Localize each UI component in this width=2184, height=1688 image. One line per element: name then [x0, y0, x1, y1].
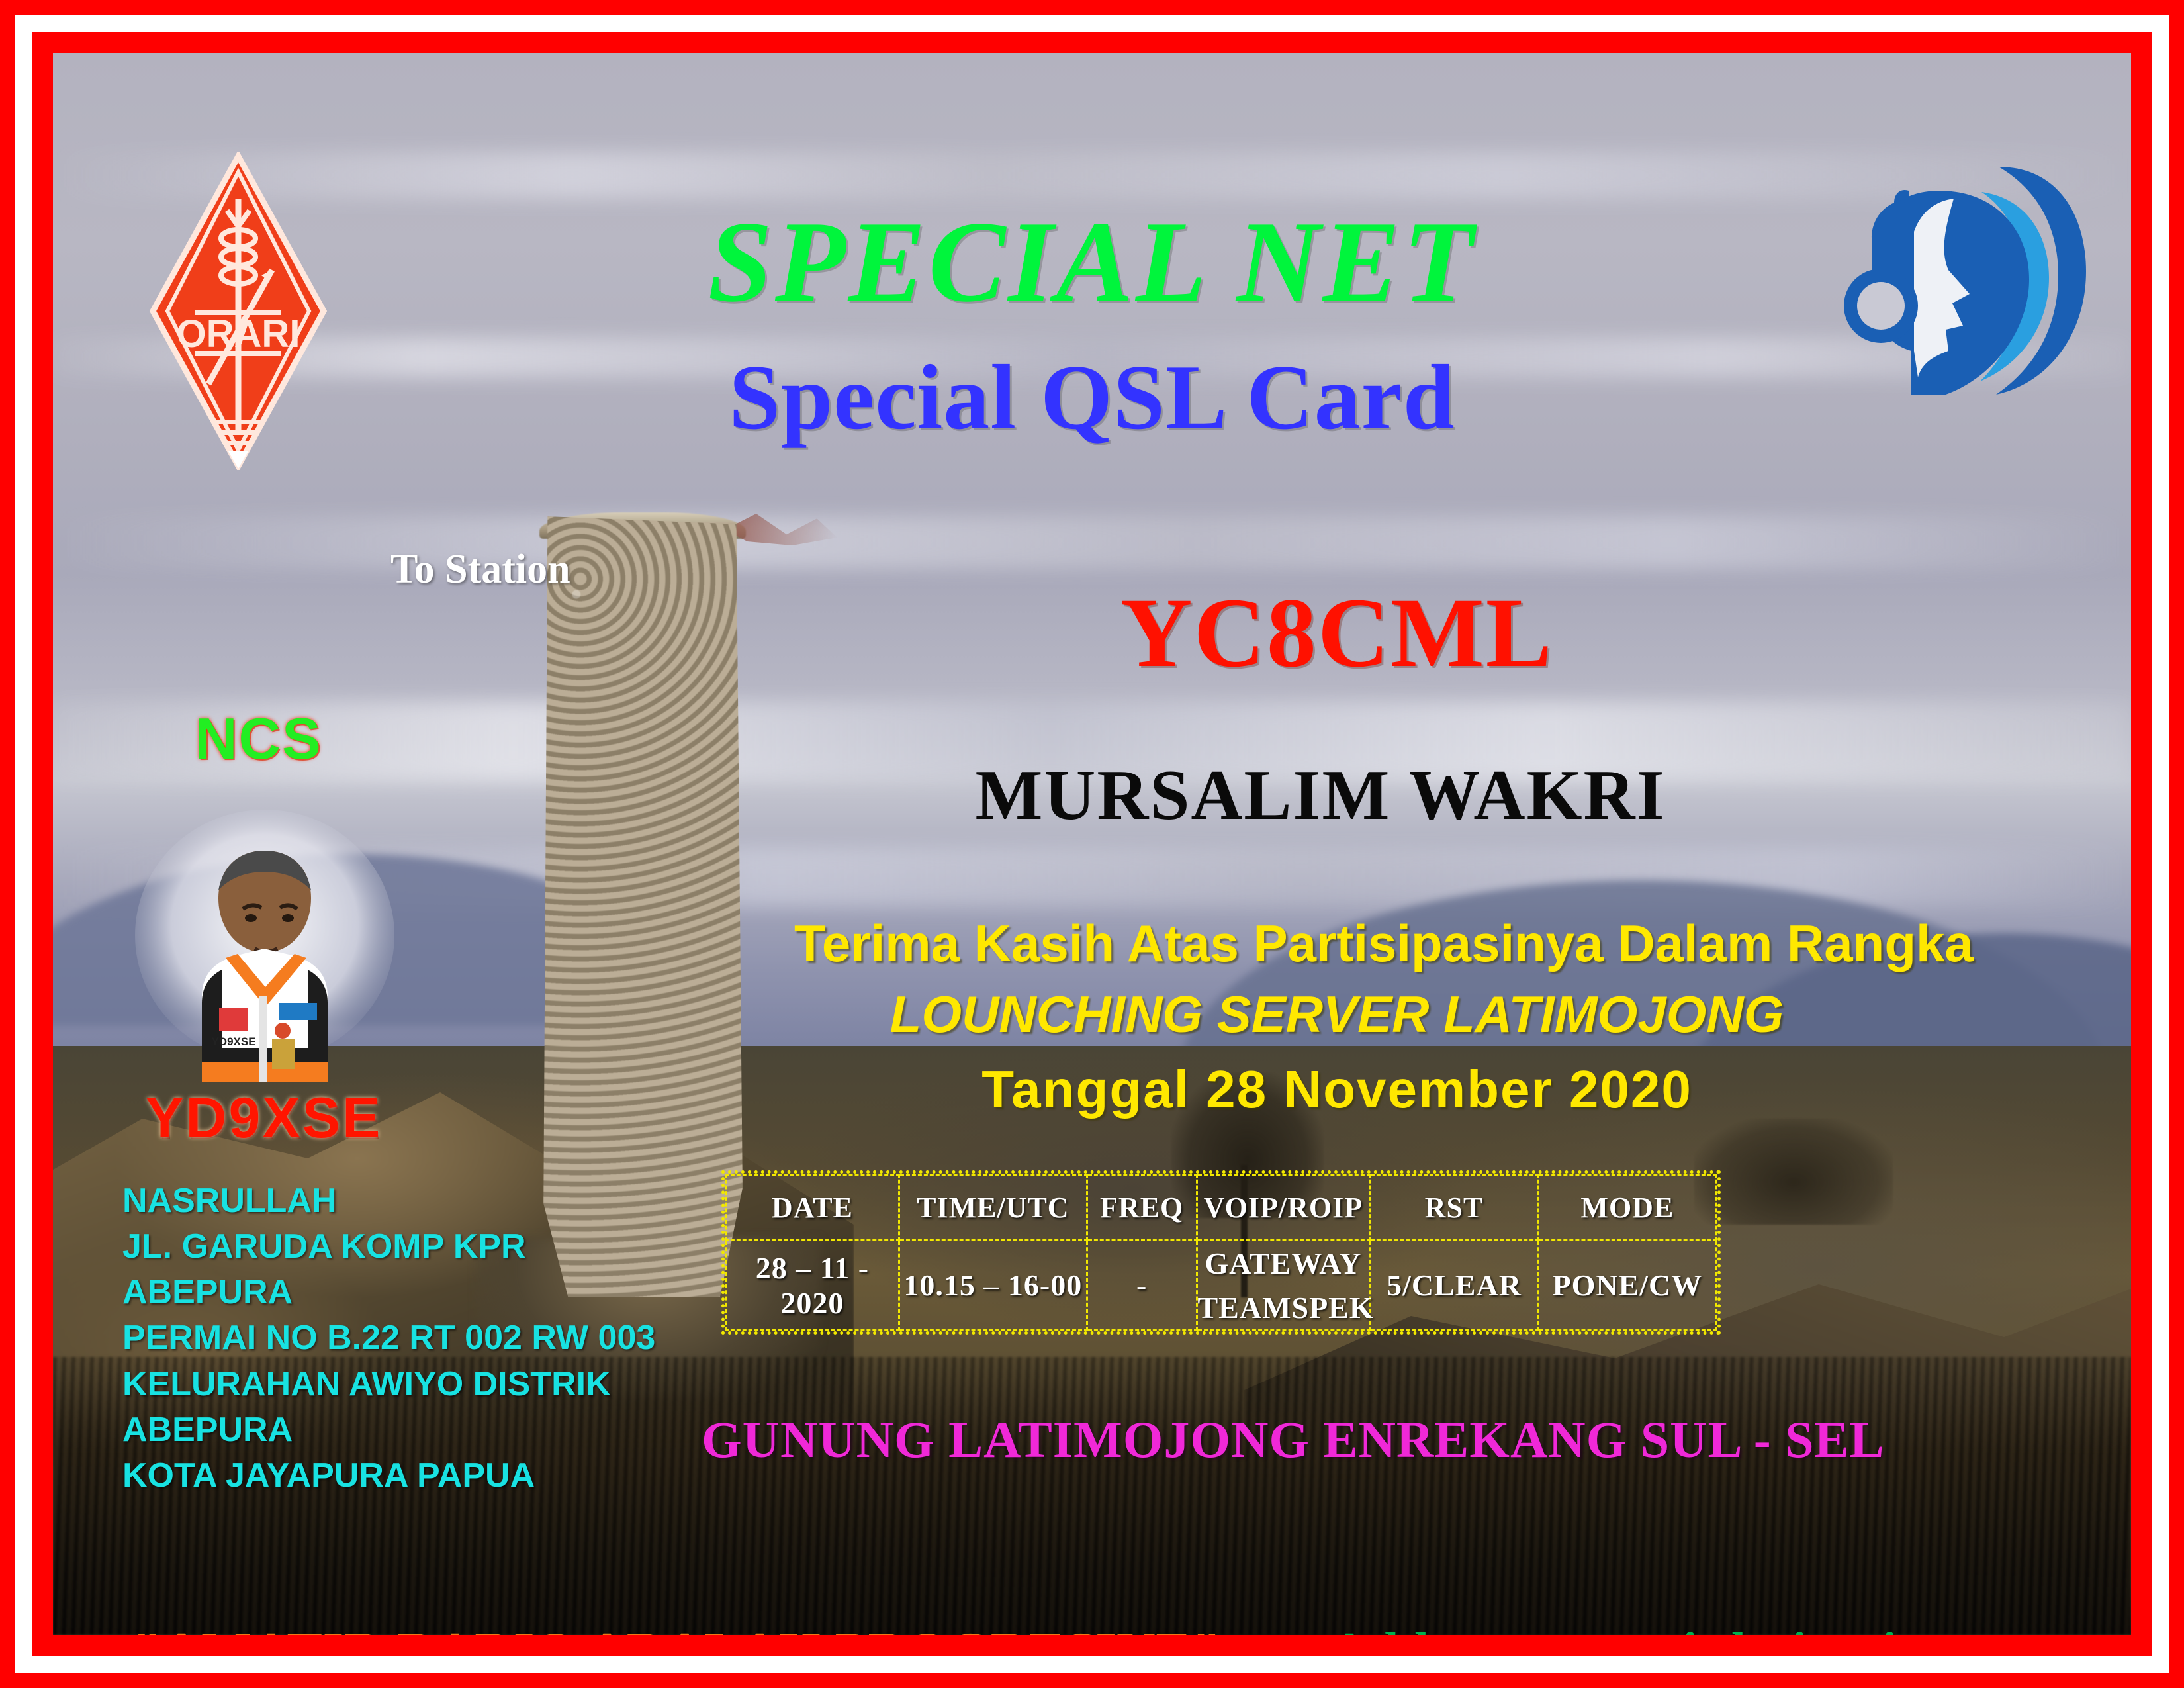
cell-rst: 5/CLEAR [1370, 1241, 1538, 1331]
address-line: NASRULLAH [122, 1178, 685, 1224]
cell-date: 28 – 11 - 2020 [726, 1241, 899, 1331]
cloud-band [53, 152, 2131, 199]
cell-voip-roip: GATEWAY TEAMSPEK [1197, 1241, 1370, 1331]
column-header-time-utc: TIME/UTC [899, 1175, 1087, 1241]
footer-web-address: Address : amatir.latimojong.com [1330, 1622, 2092, 1635]
column-header-voip-roip: VOIP/ROIP [1197, 1175, 1370, 1241]
qsl-card: ORARI SPECIAL NET Special QSL Card To St… [0, 0, 2184, 1688]
cell-voip-roip-line2: TEAMSPEK [1198, 1290, 1369, 1325]
qso-log-table: DATE TIME/UTC FREQ VOIP/ROIP RST MODE 28… [721, 1170, 1721, 1335]
event-line-thanks: Terima Kasih Atas Partisipasinya Dalam R… [794, 914, 1880, 974]
column-header-rst: RST [1370, 1175, 1538, 1241]
column-header-date: DATE [726, 1175, 899, 1241]
cell-voip-roip-line1: GATEWAY [1205, 1246, 1361, 1280]
to-station-label: To Station [390, 546, 570, 593]
cloud-band [53, 516, 2131, 569]
address-line: JL. GARUDA KOMP KPR [122, 1224, 685, 1270]
operator-name: MURSALIM WAKRI [880, 755, 1760, 837]
tree-silhouette [1694, 1119, 1893, 1225]
table-row: 28 – 11 - 2020 10.15 – 16-00 - GATEWAY T… [726, 1241, 1717, 1331]
photo-background: ORARI SPECIAL NET Special QSL Card To St… [53, 53, 2131, 1635]
cell-time: 10.15 – 16-00 [899, 1241, 1087, 1331]
ncs-portrait-avatar: YD9XSE [122, 798, 407, 1082]
address-line: KELURAHAN AWIYO DISTRIK [122, 1362, 685, 1407]
cell-mode: PONE/CW [1538, 1241, 1716, 1331]
page-title-special-net: SPECIAL NET [53, 195, 2131, 328]
address-line: KOTA JAYAPURA PAPUA [122, 1453, 685, 1499]
column-header-freq: FREQ [1087, 1175, 1197, 1241]
event-line-date: Tanggal 28 November 2020 [794, 1059, 1880, 1120]
column-header-mode: MODE [1538, 1175, 1716, 1241]
event-line-launching: LOUNCHING SERVER LATIMOJONG [794, 984, 1880, 1045]
cell-freq: - [1087, 1241, 1197, 1331]
address-line: ABEPURA [122, 1270, 685, 1315]
ncs-label: NCS [195, 705, 322, 773]
ncs-address-block: NASRULLAH JL. GARUDA KOMP KPR ABEPURA PE… [122, 1178, 685, 1499]
address-line: PERMAI NO B.22 RT 002 RW 003 [122, 1315, 685, 1361]
address-line: ABEPURA [122, 1407, 685, 1453]
ncs-callsign: YD9XSE [146, 1086, 382, 1151]
page-subtitle-special-qsl-card: Special QSL Card [53, 344, 2131, 451]
station-callsign: YC8CML [913, 576, 1760, 690]
portrait-badge-callsign: YD9XSE [211, 1035, 255, 1048]
table-header-row: DATE TIME/UTC FREQ VOIP/ROIP RST MODE [726, 1175, 1717, 1241]
event-message-block: Terima Kasih Atas Partisipasinya Dalam R… [794, 914, 1880, 1120]
event-location: GUNUNG LATIMOJONG ENREKANG SUL - SEL [702, 1410, 1885, 1470]
footer-motto: "AMATIR RADIO ADALAH PROGRESIVE" [132, 1622, 1222, 1635]
